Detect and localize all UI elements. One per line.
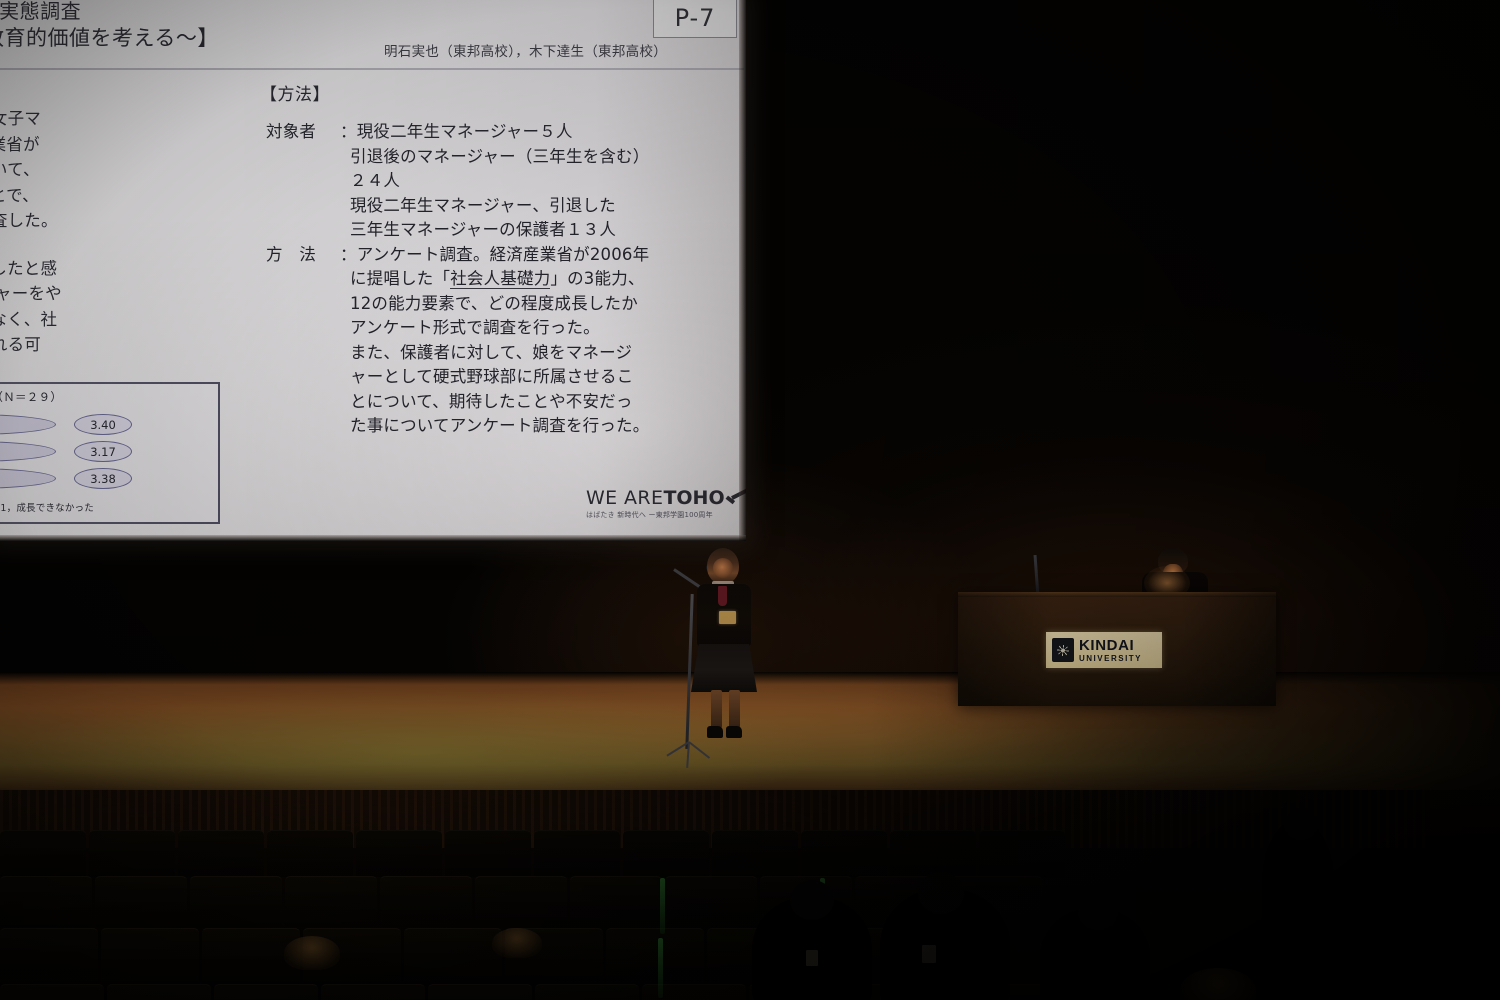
audience-darkness-overlay bbox=[0, 790, 1500, 1000]
method-procedure-cont-1: に提唱した「社会人基礎力」の3能力、 bbox=[266, 267, 649, 292]
presenter-leg-left bbox=[711, 690, 722, 728]
survey-chart-box: ついてのアンケート（Ｎ＝２９） 素） 3.40 素） 3.17 素） 3.38 … bbox=[0, 382, 220, 524]
toho-logo-text: WE ARETOHO bbox=[586, 488, 734, 509]
chart-bar-3 bbox=[0, 468, 56, 489]
method-key-procedure: 方 法 bbox=[266, 243, 340, 268]
podium-shading bbox=[958, 592, 1276, 706]
chart-title: ついてのアンケート（Ｎ＝２９） bbox=[0, 389, 62, 405]
left-col-p1-line-2: によって経営産業省が bbox=[0, 132, 244, 158]
presenter-face bbox=[713, 558, 733, 578]
method-colon-procedure: ： bbox=[340, 243, 357, 268]
chart-footnote: あまり成長できなかった 1，成長できなかった bbox=[0, 500, 94, 514]
method-procedure-cont-2: 12の能力要素で、どの程度成長したか bbox=[266, 292, 649, 317]
chart-bar-2 bbox=[0, 441, 56, 462]
procedure-text-post: 」の3能力、 bbox=[550, 269, 644, 288]
projection-screen: ージャーの実態調査 ジャーの教育的価値を考える～】 明石実也（東邦高校），木下達… bbox=[0, 0, 746, 541]
method-procedure-cont-4: また、保護者に対して、娘をマネージ bbox=[266, 341, 649, 366]
method-subjects-cont-4: 三年生マネージャーの保護者１３人 bbox=[266, 218, 649, 243]
slide-method-block: 対象者 ： 現役二年生マネージャー５人 引退後のマネージャー（三年生を含む） ２… bbox=[266, 120, 649, 439]
left-col-p2-line-4: 質能力を鍛えられる可 bbox=[0, 332, 244, 358]
presenter-shoe-left bbox=[707, 726, 723, 738]
method-subjects-cont-2: ２４人 bbox=[266, 169, 649, 194]
left-col-p1-line-1: 野球部強豪校の女子マ bbox=[0, 106, 244, 132]
page-number-badge: P-7 bbox=[653, 0, 737, 38]
presenter-name-badge bbox=[719, 611, 736, 624]
chart-bar-1 bbox=[0, 414, 56, 435]
left-col-p1-line-5: 身につくのか調査した。 bbox=[0, 208, 244, 234]
audience-seating-area bbox=[0, 790, 1500, 1000]
screen-bottom-edge bbox=[0, 535, 746, 541]
left-col-p2-line-1: 本を通して成長したと感 bbox=[0, 256, 244, 282]
method-subjects-cont-3: 現役二年生マネージャー、引退した bbox=[266, 194, 649, 219]
method-procedure-cont-3: アンケート形式で調査を行った。 bbox=[266, 316, 649, 341]
lectern-podium: KINDAI UNIVERSITY bbox=[958, 592, 1276, 706]
conference-presentation-photo: ージャーの実態調査 ジャーの教育的価値を考える～】 明石実也（東邦高校），木下達… bbox=[0, 0, 1500, 1000]
underlined-term: 社会人基礎力 bbox=[450, 269, 550, 289]
tripod-leg-center bbox=[686, 742, 690, 768]
method-procedure-cont-5: ャーとして硬式野球部に所属させるこ bbox=[266, 365, 649, 390]
method-row-subjects: 対象者 ： 現役二年生マネージャー５人 bbox=[266, 120, 649, 145]
tripod-leg-right bbox=[666, 741, 689, 756]
presentation-slide: ージャーの実態調査 ジャーの教育的価値を考える～】 明石実也（東邦高校），木下達… bbox=[0, 0, 739, 536]
section-heading-method: 【方法】 bbox=[260, 80, 330, 105]
toho-we-are: WE ARE bbox=[586, 487, 663, 509]
left-col-p1-line-4: として支えることで、 bbox=[0, 183, 244, 209]
method-row-procedure: 方 法 ： アンケート調査。経済産業省が2006年 bbox=[266, 243, 649, 268]
left-col-p1-line-3: 基礎力」に基づいて、 bbox=[0, 157, 244, 183]
presenter-skirt bbox=[691, 644, 757, 692]
method-procedure-cont-7: た事についてアンケート調査を行った。 bbox=[266, 414, 649, 439]
tripod-leg-left bbox=[688, 741, 710, 759]
chart-value-3: 3.38 bbox=[74, 468, 132, 489]
method-procedure-cont-6: とについて、期待したことや不安だっ bbox=[266, 390, 649, 415]
slide-authors: 明石実也（東邦高校），木下達生（東邦高校） bbox=[384, 40, 667, 60]
presenter-ribbon-tie bbox=[718, 586, 727, 606]
method-value-subjects: 現役二年生マネージャー５人 bbox=[357, 120, 650, 145]
slide-title-line-1: ージャーの実態調査 bbox=[0, 0, 458, 24]
left-col-p2-line-3: を支えるだけでなく、社 bbox=[0, 307, 244, 333]
microphone-tripod-base bbox=[652, 742, 730, 770]
left-col-p2-line-2: 女子マネージャーをや bbox=[0, 281, 244, 307]
method-subjects-cont-1: 引退後のマネージャー（三年生を含む） bbox=[266, 145, 649, 170]
screen-right-edge bbox=[739, 0, 746, 541]
toho-tagline: はばたき 新時代へ ー東邦学園100周年 bbox=[586, 510, 734, 520]
method-value-procedure: アンケート調査。経済産業省が2006年 bbox=[357, 243, 650, 268]
method-colon-subjects: ： bbox=[340, 120, 357, 145]
chart-value-2: 3.17 bbox=[74, 441, 132, 462]
method-key-subjects: 対象者 bbox=[266, 120, 340, 145]
toho-logo: WE ARETOHO はばたき 新時代へ ー東邦学園100周年 bbox=[586, 488, 734, 520]
presenter-shoe-right bbox=[726, 726, 742, 738]
presenter-leg-right bbox=[729, 690, 740, 728]
procedure-text-pre: に提唱した「 bbox=[350, 269, 450, 288]
chart-value-1: 3.40 bbox=[74, 414, 132, 435]
toho-brand: TOHO bbox=[663, 487, 724, 509]
header-divider bbox=[0, 68, 744, 70]
slide-left-column: 野球部強豪校の女子マ によって経営産業省が 基礎力」に基づいて、 として支えるこ… bbox=[0, 106, 244, 358]
